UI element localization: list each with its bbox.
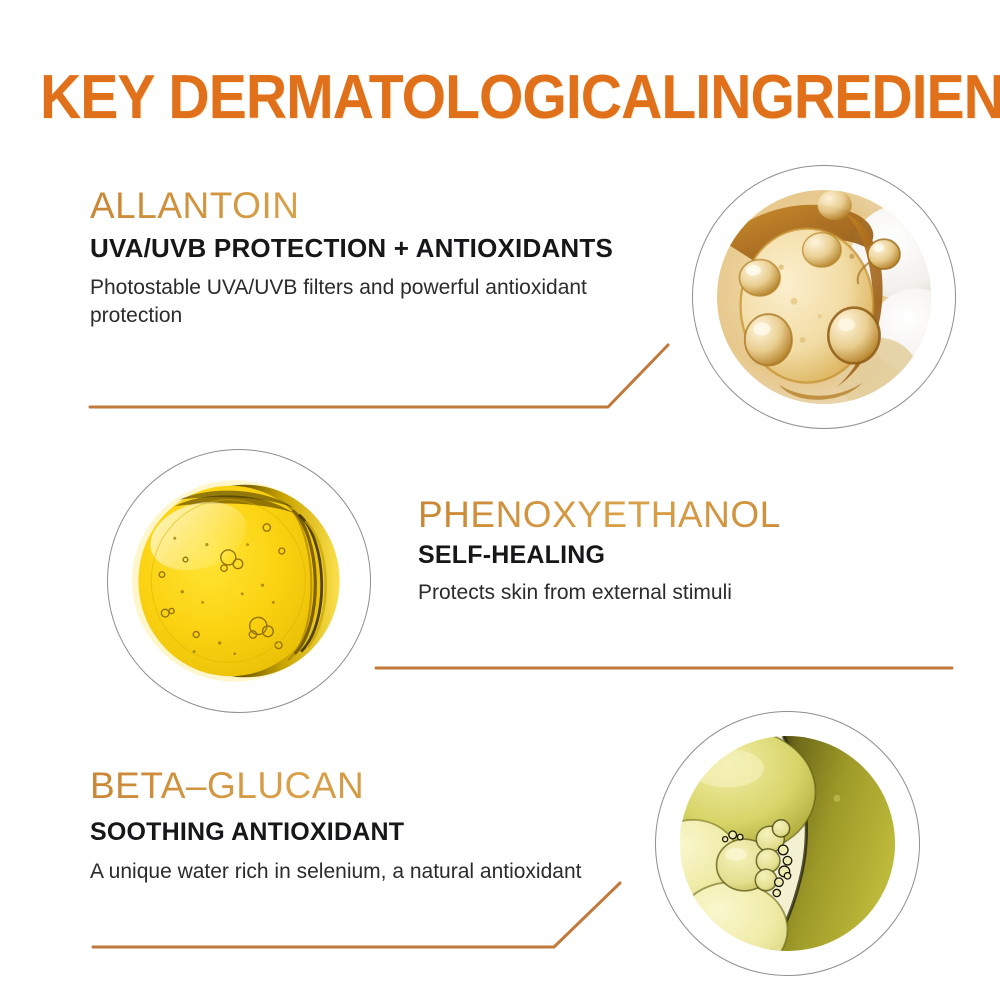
yellow-serum-petri-dish-photo [132, 474, 346, 688]
ingredient-image-betaglucan [655, 711, 920, 976]
ingredient-description: Protects skin from external stimuli [418, 579, 938, 607]
ingredient-name: ALLANTOIN [90, 185, 630, 227]
olive-oil-bubbles-photo [680, 736, 895, 951]
ingredient-benefit: SOOTHING ANTIOXIDANT [90, 817, 610, 848]
infographic-page: KEY DERMATOLOGICALINGREDIENTS ALLANTOIN … [0, 0, 1000, 1000]
ingredient-image-phenoxyethanol [107, 449, 371, 713]
section-divider-2 [374, 660, 954, 676]
ingredient-image-allantoin [692, 165, 956, 429]
ingredient-block-allantoin: ALLANTOIN UVA/UVB PROTECTION + ANTIOXIDA… [90, 185, 630, 330]
ingredient-name: BETA–GLUCAN [90, 765, 610, 807]
section-divider-3 [91, 878, 626, 954]
ingredient-block-phenoxyethanol: PHENOXYETHANOL SELF-HEALING Protects ski… [418, 494, 938, 607]
page-title: KEY DERMATOLOGICALINGREDIENTS [40, 66, 960, 130]
ingredient-block-betaglucan: BETA–GLUCAN SOOTHING ANTIOXIDANT A uniqu… [90, 765, 610, 886]
ingredient-benefit: UVA/UVB PROTECTION + ANTIOXIDANTS [90, 233, 630, 264]
ingredient-benefit: SELF-HEALING [418, 540, 938, 571]
amber-oil-droplets-photo [717, 190, 931, 404]
ingredient-description: Photostable UVA/UVB filters and powerful… [90, 274, 630, 330]
section-divider-1 [88, 340, 678, 415]
ingredient-name: PHENOXYETHANOL [418, 494, 938, 536]
